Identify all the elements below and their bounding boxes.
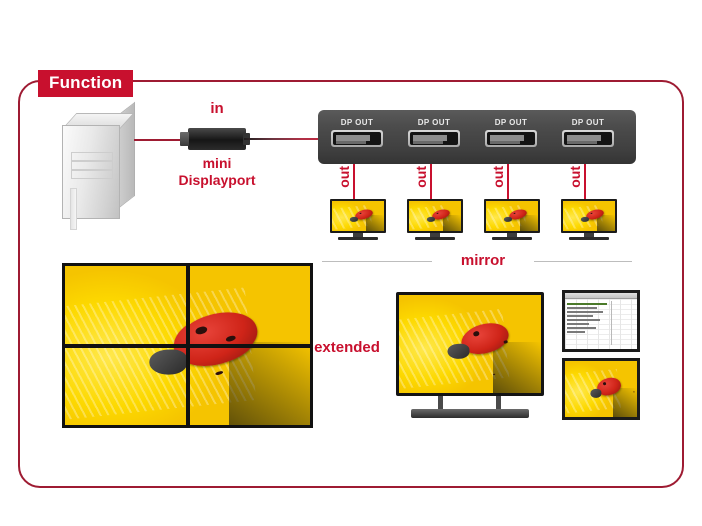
dp-out-label: DP OUT xyxy=(480,118,542,127)
video-wall-panel xyxy=(65,348,186,426)
mirror-monitor-1 xyxy=(330,199,386,240)
mini-displayport-connector-icon xyxy=(188,128,246,150)
video-wall-panel xyxy=(65,266,186,344)
extended-primary-monitor xyxy=(396,292,544,418)
spreadsheet-column-divider xyxy=(611,301,612,345)
displayport-socket-icon xyxy=(485,130,537,147)
extended-secondary-monitor-spreadsheet xyxy=(562,290,640,352)
video-wall-panel xyxy=(190,266,311,344)
video-wall-2x2 xyxy=(62,263,313,428)
drive-bay xyxy=(71,161,113,170)
dp-out-port-4[interactable]: DP OUT xyxy=(557,118,619,147)
extended-label: extended xyxy=(300,339,394,356)
dp-out-port-2[interactable]: DP OUT xyxy=(403,118,465,147)
connector-label: mini Displayport xyxy=(152,155,282,189)
spreadsheet-rows xyxy=(567,303,609,335)
output-label-1: out xyxy=(336,166,352,188)
cable-connector-to-splitter xyxy=(244,138,326,140)
mirror-monitor-3 xyxy=(484,199,540,240)
front-panel-slot xyxy=(70,188,77,230)
displayport-socket-icon xyxy=(408,130,460,147)
drive-bay xyxy=(71,170,113,179)
pc-tower xyxy=(62,113,138,217)
displayport-socket-icon xyxy=(562,130,614,147)
drive-bay xyxy=(71,152,113,161)
connector-label-line2: Displayport xyxy=(178,172,255,188)
dp-out-port-3[interactable]: DP OUT xyxy=(480,118,542,147)
dp-out-label: DP OUT xyxy=(403,118,465,127)
input-label: in xyxy=(188,100,246,117)
connector-line-3 xyxy=(507,164,509,200)
connector-line-4 xyxy=(584,164,586,200)
displayport-socket-icon xyxy=(331,130,383,147)
function-badge: Function xyxy=(38,70,133,97)
dp-out-label: DP OUT xyxy=(557,118,619,127)
mirror-monitor-2 xyxy=(407,199,463,240)
output-label-3: out xyxy=(490,166,506,188)
connector-line-2 xyxy=(430,164,432,200)
spreadsheet-window xyxy=(565,293,637,349)
dp-out-port-1[interactable]: DP OUT xyxy=(326,118,388,147)
mirror-label: mirror xyxy=(432,252,534,269)
connector-label-line1: mini xyxy=(203,155,232,171)
mirror-monitor-4 xyxy=(561,199,617,240)
pc-tower-body xyxy=(62,125,120,219)
dp-out-label: DP OUT xyxy=(326,118,388,127)
connector-line-1 xyxy=(353,164,355,200)
video-wall-panel xyxy=(190,348,311,426)
extended-secondary-monitor-image xyxy=(562,358,640,420)
output-label-2: out xyxy=(413,166,429,188)
displayport-splitter-device: DP OUT DP OUT DP OUT DP OUT xyxy=(318,110,636,164)
output-label-4: out xyxy=(567,166,583,188)
